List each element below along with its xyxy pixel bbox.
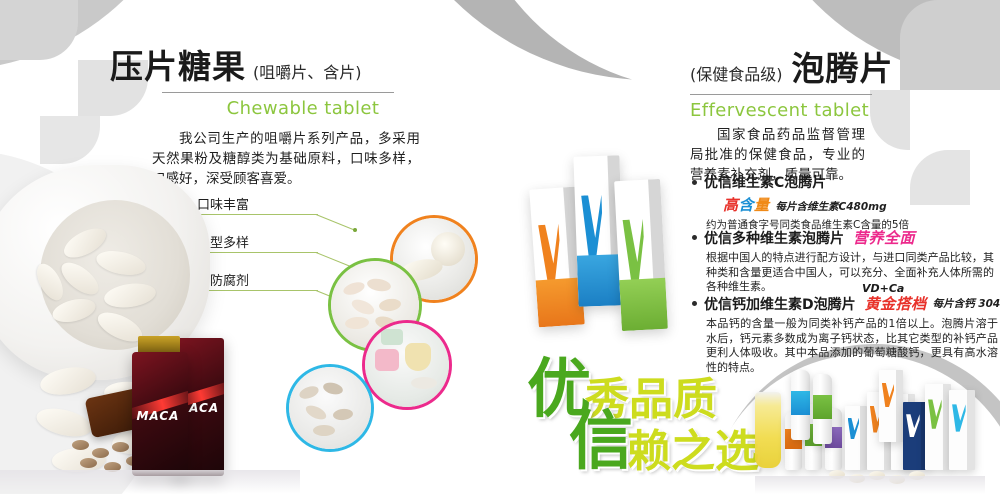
dissolved-drink-glass: [755, 392, 781, 468]
brand-swoosh-icon: [952, 404, 966, 431]
bullet-title: 优信维生素C泡腾片: [704, 172, 826, 192]
callout-dot-1: [353, 228, 357, 232]
poster-canvas: 压片糖果 (咀嚼片、含片) Chewable tablet 我公司生产的咀嚼片系…: [0, 0, 1000, 494]
bullet-tag: 高含量: [723, 194, 770, 215]
circle-photo-pink: [362, 320, 452, 410]
product-lineup-photo: [755, 358, 1000, 494]
pill: [34, 404, 94, 442]
bullet-tag: 营养全面: [853, 227, 915, 248]
product-tube: [791, 370, 810, 440]
bullet-dot-icon: [692, 180, 697, 185]
right-title-rule: [690, 94, 872, 95]
brown-tablet: [80, 458, 97, 468]
brand-swoosh-icon: [928, 399, 942, 428]
brown-tablet: [72, 440, 89, 450]
photo-shelf: [0, 470, 300, 494]
brown-tablet: [112, 442, 129, 452]
right-panel: (保健食品级) 泡腾片 Effervescent tablet 国家食品药品监督…: [690, 42, 990, 185]
bullet-title-row: 优信多种维生素泡腾片 营养全面: [692, 227, 992, 248]
product-box: [925, 384, 951, 470]
tablet-green: [381, 329, 403, 345]
brand-swoosh-icon: [848, 418, 859, 440]
bullet-title: 优信多种维生素泡腾片: [704, 228, 844, 248]
bullet-dot-icon: [692, 235, 697, 240]
bullet-tag-row: 高含量 每片含维生素C480mg: [714, 194, 992, 215]
brand-logo-icon: [534, 198, 553, 217]
right-title-row: (保健食品级) 泡腾片: [690, 42, 990, 90]
callout-line-1b: [316, 214, 353, 230]
tablet-cream: [405, 343, 431, 371]
bullet-tag: 黄金搭档: [865, 293, 927, 314]
slogan-big-2: 信: [569, 410, 633, 474]
tablet: [411, 377, 437, 389]
tablet-pink: [375, 349, 399, 371]
right-title-en: Effervescent tablet: [690, 100, 990, 121]
circle-photo-blue: [286, 364, 374, 452]
slogan-block: 优 秀品质 信 赖之选: [527, 358, 759, 474]
brand-swoosh-icon: [882, 383, 894, 407]
product-box: [845, 406, 867, 470]
product-tube: [813, 374, 832, 444]
maca-bottle: MACA: [132, 352, 188, 476]
product-box: [949, 390, 975, 470]
brand-logo-icon: [619, 191, 638, 210]
bullet-dot-icon: [692, 301, 697, 306]
bullet-title: 优信钙加维生素D泡腾片: [704, 294, 856, 314]
effervescent-boxes-photo: [530, 140, 680, 355]
maca-brand-text: MACA: [136, 409, 179, 423]
effervescent-box-green: [614, 179, 668, 331]
left-product-photo: MACA MACA: [0, 0, 300, 494]
product-box: [879, 370, 903, 442]
brand-logo-icon: [578, 167, 597, 186]
bullet-title-row: 优信维生素C泡腾片: [692, 172, 992, 192]
bullet-vitamin-c: 优信维生素C泡腾片 高含量 每片含维生素C480mg 约为普通食字号同类食品维生…: [692, 172, 992, 232]
tablet: [313, 425, 335, 436]
photo-shelf: [755, 476, 985, 494]
right-title-cn: 泡腾片: [792, 42, 894, 90]
bullet-title-row: 优信钙加维生素D泡腾片 黄金搭档 每片含钙 304mg: [692, 293, 992, 314]
brown-tablet: [92, 448, 109, 458]
right-title-paren: (保健食品级): [690, 61, 783, 85]
brand-swoosh-icon: [906, 414, 920, 437]
slogan-small-2: 赖之选: [627, 430, 759, 474]
bullet-spec: 每片含维生素C480mg: [776, 199, 887, 214]
bullet-spec: 每片含钙 304mg: [933, 296, 1000, 311]
